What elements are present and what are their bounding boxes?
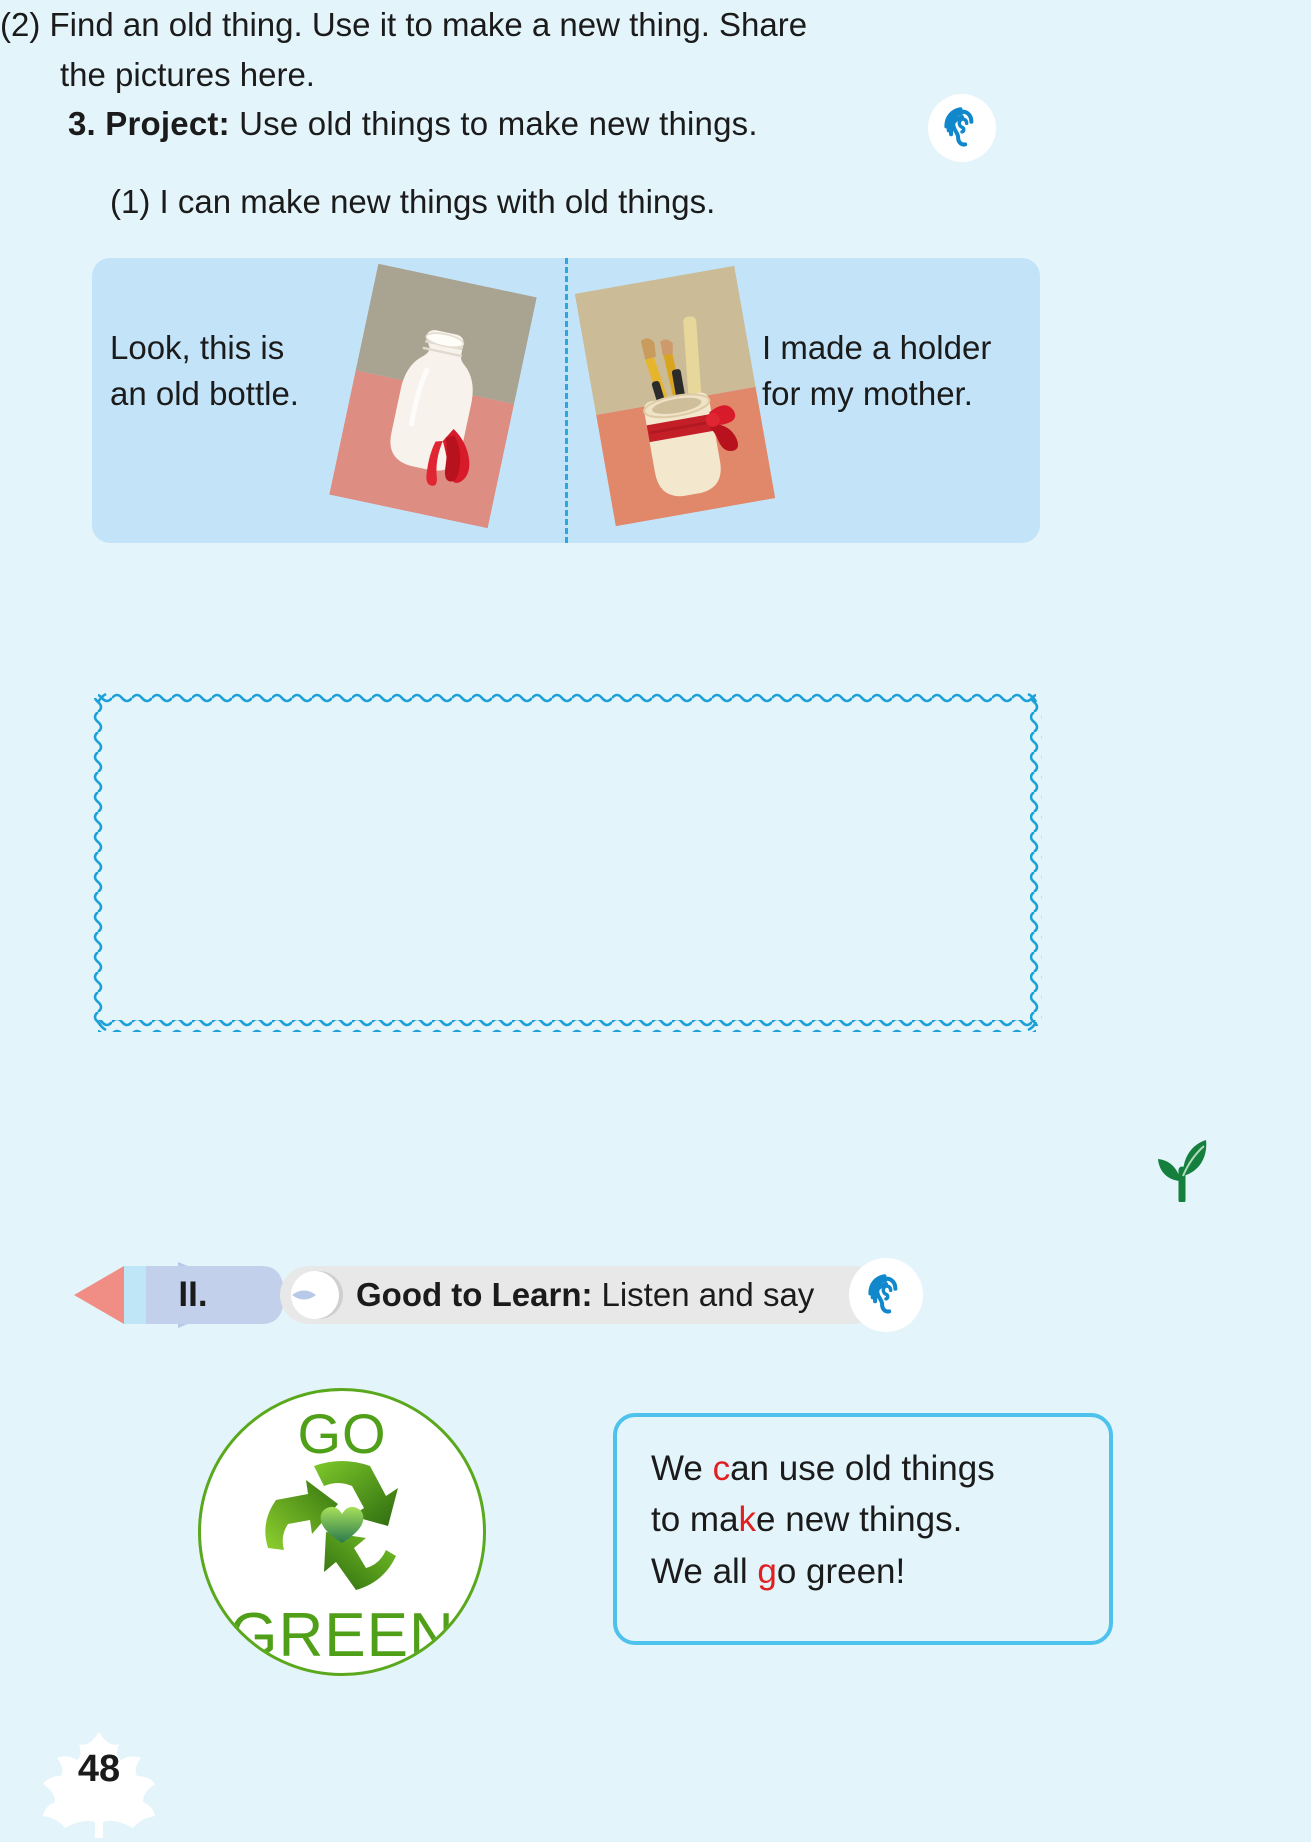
speech-bubble-right: I made a holder for my mother. [762,325,991,416]
say-line-3-highlight: g [757,1552,776,1591]
task-3-instruction: Use old things to make new things. [239,105,758,142]
say-line-1: We can use old things [651,1443,1075,1494]
say-line-2-pre: to ma [651,1500,739,1539]
answer-drawing-box[interactable] [92,692,1042,1032]
say-line-2-highlight: k [739,1500,757,1539]
section-2-title-rest: Listen and say [601,1276,814,1314]
holder-jar [643,390,725,500]
say-line-1-pre: We [651,1449,713,1488]
say-line-2: to make new things. [651,1494,1075,1545]
sprout-icon [1152,1130,1214,1202]
listen-and-say-textbox: We can use old things to make new things… [613,1413,1113,1645]
task-3-sub-item-1: (1) I can make new things with old thing… [110,183,715,221]
task-3-number-label: 3. Project: [68,105,230,142]
section-2-title-pill: Good to Learn: Listen and say [280,1266,882,1324]
section-2-roman-numeral: II. [62,1262,302,1328]
leaf-knob-icon [290,1268,344,1322]
task-3-heading: 3. Project: Use old things to make new t… [68,105,758,143]
page-number-leaf: 48 [38,1726,160,1838]
task-3-sub-item-2-line-1: (2) Find an old thing. Use it to make a … [0,0,920,50]
speech-left-line-1: Look, this is [110,325,299,371]
speech-left-line-2: an old bottle. [110,371,299,417]
speech-right-line-1: I made a holder [762,325,991,371]
recycle-heart-icon [254,1452,430,1612]
say-line-1-highlight: c [713,1449,731,1488]
say-line-2-post: e new things. [756,1500,962,1539]
go-green-bottom-text: GREEN [201,1600,483,1671]
say-line-3: We all go green! [651,1546,1075,1597]
task-3-sub-item-2: (2) Find an old thing. Use it to make a … [0,0,920,99]
say-line-3-post: o green! [777,1552,905,1591]
say-line-3-pre: We all [651,1552,757,1591]
go-green-logo: GO GREEN [198,1388,486,1676]
page-number-text: 48 [38,1748,160,1791]
ear-listen-icon[interactable] [928,94,996,162]
task-3-sub-item-2-line-2: the pictures here. [0,50,920,100]
speech-right-line-2: for my mother. [762,371,991,417]
speech-bubble-left: Look, this is an old bottle. [110,325,299,416]
say-line-1-post: an use old things [730,1449,995,1488]
ear-listen-icon[interactable] [849,1258,923,1332]
section-2-title-bold: Good to Learn: [356,1276,592,1314]
dialogue-divider [565,258,568,543]
